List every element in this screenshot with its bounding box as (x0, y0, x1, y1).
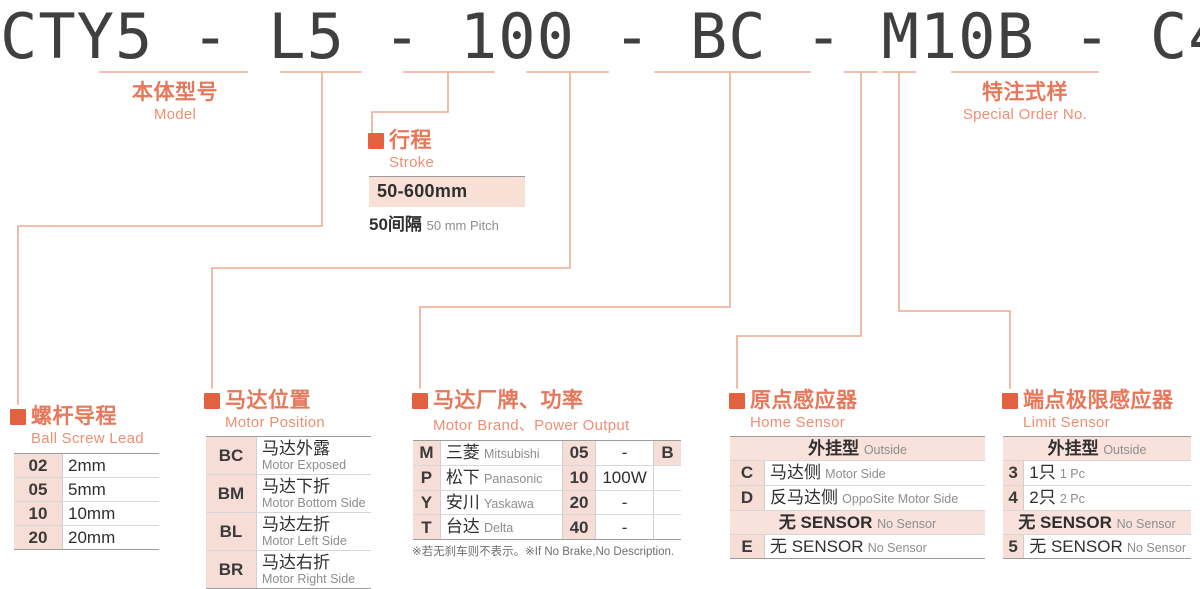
cell-desc-zh: 马达右折 (262, 553, 366, 572)
callout-home-sensor: 原点感应器 Home Sensor 外挂型 Outside C 马达侧 Moto… (729, 390, 985, 559)
cell-desc-zh: 1只 (1029, 463, 1055, 482)
cell-brand: 安川 Yaskawa (440, 490, 562, 515)
cell-desc-zh: 反马达侧 (770, 488, 838, 507)
band-outside: 外挂型 Outside (1003, 437, 1191, 461)
cell-brand-en: Delta (484, 521, 513, 535)
motor-brand-footnote: ※若无刹车则不表示。※If No Brake,No Description. (412, 543, 681, 559)
motor-position-table: BC 马达外露 Motor Exposed BM 马达下折 Motor Bott… (206, 436, 371, 589)
cell-desc: 反马达侧 OppoSite Motor Side (765, 485, 986, 510)
cell-brand-code: Y (413, 490, 440, 515)
cell-brand: 台达 Delta (440, 515, 562, 540)
band-no-sensor-en: No Sensor (1117, 517, 1176, 531)
table-row: BR 马达右折 Motor Right Side (206, 551, 371, 589)
callout-limit-sensor-title: 端点极限感应器 (1002, 390, 1191, 411)
cell-power: - (596, 490, 654, 515)
cell-desc: 马达外露 Motor Exposed (257, 437, 372, 475)
cell-brake (654, 465, 681, 490)
cell-desc-en: 2 Pc (1060, 492, 1085, 506)
cell-code: C (730, 461, 765, 486)
cell-desc-zh: 马达外露 (262, 439, 366, 458)
cell-code: 5 (1003, 534, 1024, 559)
cell-desc-en: Motor Right Side (262, 572, 366, 586)
cell-code: BC (206, 437, 257, 475)
callout-ball-screw-lead-title-zh: 螺杆导程 (31, 406, 117, 427)
cell-code: E (730, 534, 765, 559)
cell-desc-en: No Sensor (1127, 541, 1186, 555)
table-row: E 无 SENSOR No Sensor (730, 534, 985, 559)
table-header-band: 无 SENSOR No Sensor (730, 510, 985, 534)
cell-value: 20mm (63, 526, 160, 550)
cell-power-code: 40 (563, 515, 596, 540)
cell-code: D (730, 485, 765, 510)
stroke-pitch-zh: 50间隔 (369, 215, 422, 234)
cell-desc: 无 SENSOR No Sensor (765, 534, 986, 559)
motor-position-marker-icon (204, 393, 220, 409)
band-no-sensor: 无 SENSOR No Sensor (1003, 510, 1191, 534)
cell-brand-code: M (413, 441, 440, 466)
callout-home-sensor-title-en: Home Sensor (750, 414, 985, 431)
band-outside: 外挂型 Outside (730, 437, 985, 461)
cell-brand-zh: 台达 (446, 517, 480, 536)
cell-desc-zh: 马达左折 (262, 515, 366, 534)
cell-desc-en: No Sensor (868, 541, 927, 555)
cell-desc: 2只 2 Pc (1024, 485, 1191, 510)
cell-desc-zh: 马达下折 (262, 477, 366, 496)
table-row: M 三菱 Mitsubishi 05 - B (413, 441, 681, 466)
cell-code: 20 (14, 526, 63, 550)
cell-desc-en: Motor Side (825, 467, 885, 481)
callout-motor-position-title: 马达位置 (204, 390, 371, 411)
cell-code: 4 (1003, 485, 1024, 510)
cell-code: 3 (1003, 461, 1024, 486)
callout-ball-screw-lead-title-en: Ball Screw Lead (31, 430, 159, 447)
cell-desc: 马达下折 Motor Bottom Side (257, 475, 372, 513)
callout-limit-sensor-title-zh: 端点极限感应器 (1023, 390, 1174, 411)
table-row: 20 20mm (14, 526, 159, 550)
motor-brand-rows: M 三菱 Mitsubishi 05 - B P 松下 Panasonic 10 (413, 441, 681, 540)
cell-desc-zh: 无 SENSOR (1029, 537, 1123, 556)
band-no-sensor-en: No Sensor (877, 517, 936, 531)
cell-desc: 马达左折 Motor Left Side (257, 513, 372, 551)
cell-code: 02 (14, 454, 63, 478)
cell-code: BL (206, 513, 257, 551)
limit-sensor-rows: 外挂型 Outside 3 1只 1 Pc 4 2只 2 Pc (1003, 437, 1191, 559)
callout-motor-brand-title-zh: 马达厂牌、功率 (433, 390, 584, 411)
cell-desc-en: OppoSite Motor Side (842, 492, 958, 506)
callout-model-title-zh: 本体型号 (132, 82, 218, 103)
table-row: 5 无 SENSOR No Sensor (1003, 534, 1191, 559)
cell-brand-zh: 安川 (446, 493, 480, 512)
callout-model-title-en: Model (100, 106, 250, 123)
table-row: D 反马达侧 OppoSite Motor Side (730, 485, 985, 510)
table-row: BL 马达左折 Motor Left Side (206, 513, 371, 551)
cell-brand-zh: 松下 (446, 468, 480, 487)
callout-stroke-title-en: Stroke (389, 154, 525, 171)
cell-value: 2mm (63, 454, 160, 478)
cell-brand-code: T (413, 515, 440, 540)
cell-desc-zh: 2只 (1029, 488, 1055, 507)
band-outside-zh: 外挂型 (1048, 439, 1099, 458)
motor-brand-marker-icon (412, 393, 428, 409)
table-row: T 台达 Delta 40 - (413, 515, 681, 540)
cell-desc: 无 SENSOR No Sensor (1024, 534, 1191, 559)
band-no-sensor: 无 SENSOR No Sensor (730, 510, 985, 534)
stroke-pitch-en: 50 mm Pitch (427, 218, 499, 233)
table-header-band: 外挂型 Outside (730, 437, 985, 461)
cell-desc-zh: 无 SENSOR (770, 537, 864, 556)
cell-power-code: 20 (563, 490, 596, 515)
home-sensor-table: 外挂型 Outside C 马达侧 Motor Side D 反马达侧 Oppo (730, 436, 985, 559)
band-no-sensor-zh: 无 SENSOR (1018, 513, 1112, 532)
cell-desc-en: 1 Pc (1060, 467, 1085, 481)
cell-brand-code: P (413, 465, 440, 490)
ball-screw-lead-rows: 02 2mm 05 5mm 10 10mm 20 20mm (14, 454, 159, 550)
callout-ball-screw-lead-title: 螺杆导程 (10, 406, 159, 427)
callout-stroke-title: 行程 (368, 130, 525, 151)
stroke-range-band: 50-600mm (369, 176, 525, 207)
cell-power: - (596, 515, 654, 540)
cell-desc: 马达侧 Motor Side (765, 461, 986, 486)
callout-limit-sensor-title-en: Limit Sensor (1023, 414, 1191, 431)
cell-code: BM (206, 475, 257, 513)
table-row: 3 1只 1 Pc (1003, 461, 1191, 486)
cell-power-code: 10 (563, 465, 596, 490)
callout-special-order-title-en: Special Order No. (942, 106, 1108, 123)
cell-desc: 马达右折 Motor Right Side (257, 551, 372, 589)
table-row: C 马达侧 Motor Side (730, 461, 985, 486)
table-header-band: 外挂型 Outside (1003, 437, 1191, 461)
stroke-pitch: 50间隔 50 mm Pitch (369, 210, 525, 235)
callout-stroke: 行程 Stroke 50-600mm 50间隔 50 mm Pitch (368, 130, 525, 235)
table-row: Y 安川 Yaskawa 20 - (413, 490, 681, 515)
table-row: 4 2只 2 Pc (1003, 485, 1191, 510)
callout-limit-sensor: 端点极限感应器 Limit Sensor 外挂型 Outside 3 1只 1 … (1002, 390, 1191, 559)
cell-desc-en: Motor Bottom Side (262, 496, 366, 510)
cell-brake (654, 515, 681, 540)
cell-brand-zh: 三菱 (446, 443, 480, 462)
band-outside-en: Outside (1103, 443, 1146, 457)
limit-sensor-table: 外挂型 Outside 3 1只 1 Pc 4 2只 2 Pc (1003, 436, 1191, 559)
callout-special-order-title-zh: 特注式样 (982, 82, 1068, 103)
home-sensor-marker-icon (729, 393, 745, 409)
callout-motor-position: 马达位置 Motor Position BC 马达外露 Motor Expose… (204, 390, 371, 589)
table-row: 10 10mm (14, 502, 159, 526)
cell-desc-en: Motor Left Side (262, 534, 366, 548)
cell-code: BR (206, 551, 257, 589)
motor-position-rows: BC 马达外露 Motor Exposed BM 马达下折 Motor Bott… (206, 437, 371, 589)
ball-screw-lead-marker-icon (10, 409, 26, 425)
cell-brake (654, 490, 681, 515)
cell-power: - (596, 441, 654, 466)
table-header-band: 无 SENSOR No Sensor (1003, 510, 1191, 534)
ball-screw-lead-table: 02 2mm 05 5mm 10 10mm 20 20mm (14, 453, 159, 550)
limit-sensor-marker-icon (1002, 393, 1018, 409)
callout-motor-brand-title-en: Motor Brand、Power Output (433, 414, 681, 435)
home-sensor-rows: 外挂型 Outside C 马达侧 Motor Side D 反马达侧 Oppo (730, 437, 985, 559)
stroke-marker-icon (368, 133, 384, 149)
cell-brand-en: Yaskawa (484, 497, 534, 511)
cell-value: 10mm (63, 502, 160, 526)
motor-brand-table: M 三菱 Mitsubishi 05 - B P 松下 Panasonic 10 (413, 440, 681, 540)
callout-stroke-title-zh: 行程 (389, 130, 432, 151)
cell-value: 5mm (63, 478, 160, 502)
callout-motor-position-title-en: Motor Position (225, 414, 371, 431)
band-outside-zh: 外挂型 (808, 439, 859, 458)
cell-desc-zh: 马达侧 (770, 463, 821, 482)
cell-desc: 1只 1 Pc (1024, 461, 1191, 486)
table-row: 02 2mm (14, 454, 159, 478)
cell-code: 05 (14, 478, 63, 502)
table-row: BM 马达下折 Motor Bottom Side (206, 475, 371, 513)
cell-brake: B (654, 441, 681, 466)
table-row: P 松下 Panasonic 10 100W (413, 465, 681, 490)
cell-power-code: 05 (563, 441, 596, 466)
cell-code: 10 (14, 502, 63, 526)
band-outside-en: Outside (864, 443, 907, 457)
callout-special-order: 特注式样 Special Order No. (942, 82, 1108, 123)
callout-motor-brand: 马达厂牌、功率 Motor Brand、Power Output M 三菱 Mi… (412, 390, 681, 559)
table-row: BC 马达外露 Motor Exposed (206, 437, 371, 475)
callout-ball-screw-lead: 螺杆导程 Ball Screw Lead 02 2mm 05 5mm 10 10… (10, 406, 159, 550)
cell-brand-en: Mitsubishi (484, 447, 540, 461)
model-code-breakdown-diagram: CTY5 - L5 - 100 - BC - M10B - C4 - 0001 (0, 0, 1200, 575)
cell-desc-en: Motor Exposed (262, 458, 366, 472)
callout-home-sensor-title-zh: 原点感应器 (750, 390, 858, 411)
callout-motor-brand-title: 马达厂牌、功率 (412, 390, 681, 411)
cell-power: 100W (596, 465, 654, 490)
callout-model: 本体型号 Model (100, 82, 250, 123)
callout-motor-position-title-zh: 马达位置 (225, 390, 311, 411)
cell-brand: 松下 Panasonic (440, 465, 562, 490)
cell-brand: 三菱 Mitsubishi (440, 441, 562, 466)
table-row: 05 5mm (14, 478, 159, 502)
band-no-sensor-zh: 无 SENSOR (779, 513, 873, 532)
callout-home-sensor-title: 原点感应器 (729, 390, 985, 411)
cell-brand-en: Panasonic (484, 472, 542, 486)
